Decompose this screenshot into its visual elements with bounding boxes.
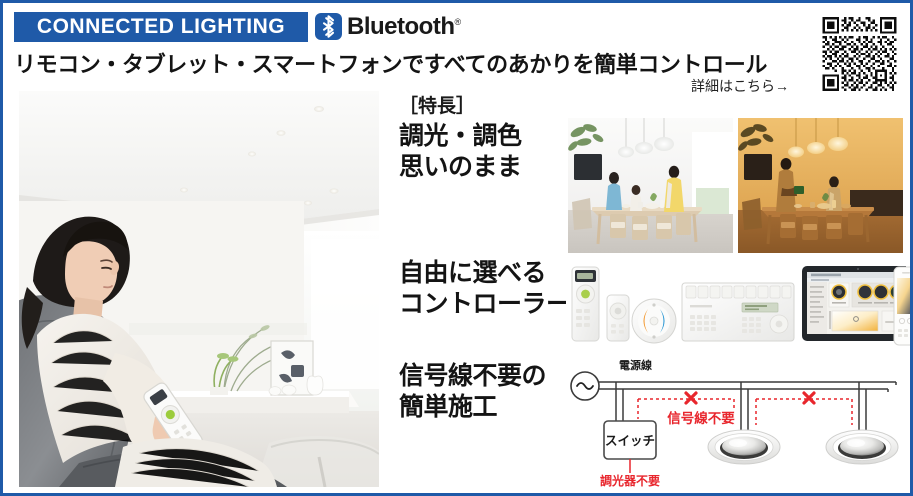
header-subtitle: リモコン・タブレット・スマートフォンですべてのあかりを簡単コントロール [14,47,767,79]
feature-3-line1: 信号線不要の [399,361,546,392]
smartphone-controller [893,266,913,346]
cool-white-dining-scene [568,118,733,253]
features-heading: ［特長］ [399,91,475,118]
controller-lineup-photo [566,261,906,349]
qr-code[interactable] [820,12,899,96]
feature-1-text: 調光・調色 思いのまま [399,121,522,182]
warm-amber-dining-scene [738,118,903,253]
dimming-scene-photos [568,118,903,253]
handheld-remote [572,267,599,341]
connected-lighting-poster: CONNECTED LIGHTING Bluetooth® リモコン・タブレット… [0,0,913,496]
bluetooth-logo: Bluetooth® [315,13,461,40]
feature-1-line2: 思いのまま [399,152,522,183]
downlight [826,430,898,464]
round-dial-controller [632,299,676,343]
feature-2-line2: コントローラー [399,289,571,320]
power-line-label: 電源線 [619,358,652,372]
bluetooth-brand-text: Bluetooth [347,13,454,40]
feature-2-text: 自由に選べる コントローラー [399,258,571,319]
feature-2-line1: 自由に選べる [399,258,571,289]
downlight [708,430,780,464]
feature-1-line1: 調光・調色 [399,121,522,152]
wall-panel-controller [682,283,794,341]
hero-photo [19,91,379,487]
no-dimmer-label: 調光器不要 [600,473,660,487]
no-signal-line-label: 信号線不要 [667,410,735,426]
bluetooth-wordmark: Bluetooth® [347,15,461,39]
qr-cta-label: 詳細はこちら→ [691,76,789,96]
registered-mark: ® [454,17,460,27]
feature-3-line2: 簡単施工 [399,392,546,423]
bluetooth-icon [315,13,342,40]
connected-lighting-banner: CONNECTED LIGHTING [14,12,308,42]
banner-title: CONNECTED LIGHTING [37,15,285,39]
wiring-diagram: 電源線 スイッチ 調 [566,355,909,487]
small-remote [607,295,629,341]
feature-3-text: 信号線不要の 簡単施工 [399,361,546,422]
switch-label: スイッチ [605,434,655,448]
tablet-controller [802,266,906,341]
